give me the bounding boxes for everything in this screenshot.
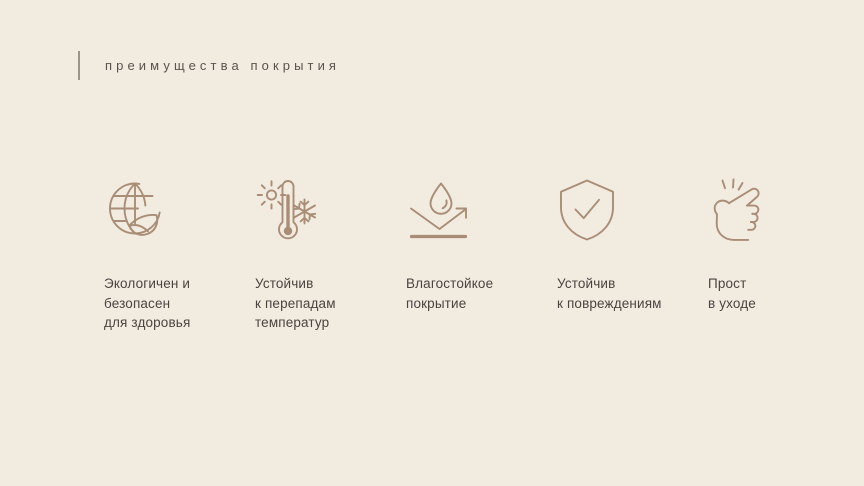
feature-item-water: Влагостойкое покрытие [406, 176, 557, 313]
globe-leaf-icon [104, 176, 174, 244]
slide-root: преимущества покрытия Экологичен и безоп… [0, 0, 864, 486]
feature-item-temperature: Устойчив к перепадам температур [255, 176, 406, 333]
feature-list: Экологичен и безопасен для здоровья [104, 176, 816, 333]
feature-label: Прост в уходе [708, 274, 756, 313]
feature-label: Экологичен и безопасен для здоровья [104, 274, 190, 333]
thermometer-sun-snowflake-icon [255, 176, 325, 244]
feature-label: Устойчив к перепадам температур [255, 274, 336, 333]
snapping-hand-icon [708, 176, 778, 244]
feature-label: Устойчив к повреждениям [557, 274, 662, 313]
accent-rule [78, 51, 80, 80]
header: преимущества покрытия [78, 51, 340, 80]
feature-item-care: Прост в уходе [708, 176, 859, 313]
feature-item-eco: Экологичен и безопасен для здоровья [104, 176, 255, 333]
shield-check-icon [557, 176, 627, 244]
feature-item-durability: Устойчив к повреждениям [557, 176, 708, 313]
feature-label: Влагостойкое покрытие [406, 274, 493, 313]
water-drop-repellent-icon [406, 176, 476, 244]
page-title: преимущества покрытия [105, 51, 340, 80]
